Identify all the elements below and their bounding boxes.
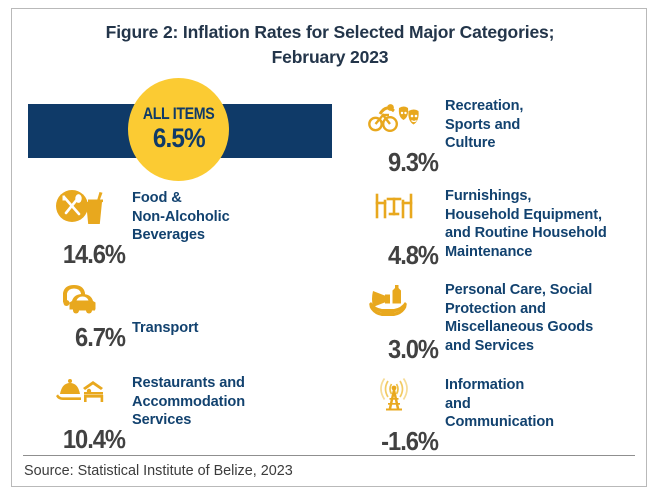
source-text: Source: Statistical Institute of Belize,… bbox=[24, 461, 293, 481]
category-percentage: 4.8% bbox=[349, 243, 438, 270]
food-drink-icon bbox=[55, 189, 107, 227]
all-items-bubble: ALL ITEMS 6.5% bbox=[128, 78, 229, 181]
category-percentage: -1.6% bbox=[349, 429, 438, 456]
category-percentage: 9.3% bbox=[349, 150, 438, 177]
all-items-label: ALL ITEMS bbox=[143, 106, 215, 123]
category-label: Restaurants and Accommodation Services bbox=[132, 374, 245, 430]
source-divider bbox=[23, 455, 635, 456]
title-line-2: February 2023 bbox=[12, 45, 648, 70]
category-percentage: 6.7% bbox=[36, 325, 125, 352]
all-items-value: 6.5% bbox=[153, 124, 205, 153]
category-label: Transport bbox=[132, 319, 198, 338]
title-line-1: Figure 2: Inflation Rates for Selected M… bbox=[12, 20, 648, 45]
transport-cars-icon bbox=[55, 281, 107, 319]
recreation-sports-culture-icon bbox=[368, 97, 420, 135]
category-label: Information and Communication bbox=[445, 376, 554, 432]
figure-container: Figure 2: Inflation Rates for Selected M… bbox=[11, 8, 647, 487]
restaurant-accommodation-icon bbox=[55, 374, 107, 412]
category-label: Personal Care, Social Protection and Mis… bbox=[445, 281, 593, 355]
category-percentage: 3.0% bbox=[349, 337, 438, 364]
category-label: Food & Non-Alcoholic Beverages bbox=[132, 189, 230, 245]
furnishings-table-chairs-icon bbox=[368, 187, 420, 225]
personal-care-hands-icon bbox=[368, 281, 420, 319]
category-label: Furnishings, Household Equipment, and Ro… bbox=[445, 187, 607, 261]
category-percentage: 14.6% bbox=[36, 242, 125, 269]
category-label: Recreation, Sports and Culture bbox=[445, 97, 523, 153]
page-title: Figure 2: Inflation Rates for Selected M… bbox=[12, 20, 648, 70]
communication-tower-icon bbox=[368, 376, 420, 414]
category-percentage: 10.4% bbox=[36, 427, 125, 454]
